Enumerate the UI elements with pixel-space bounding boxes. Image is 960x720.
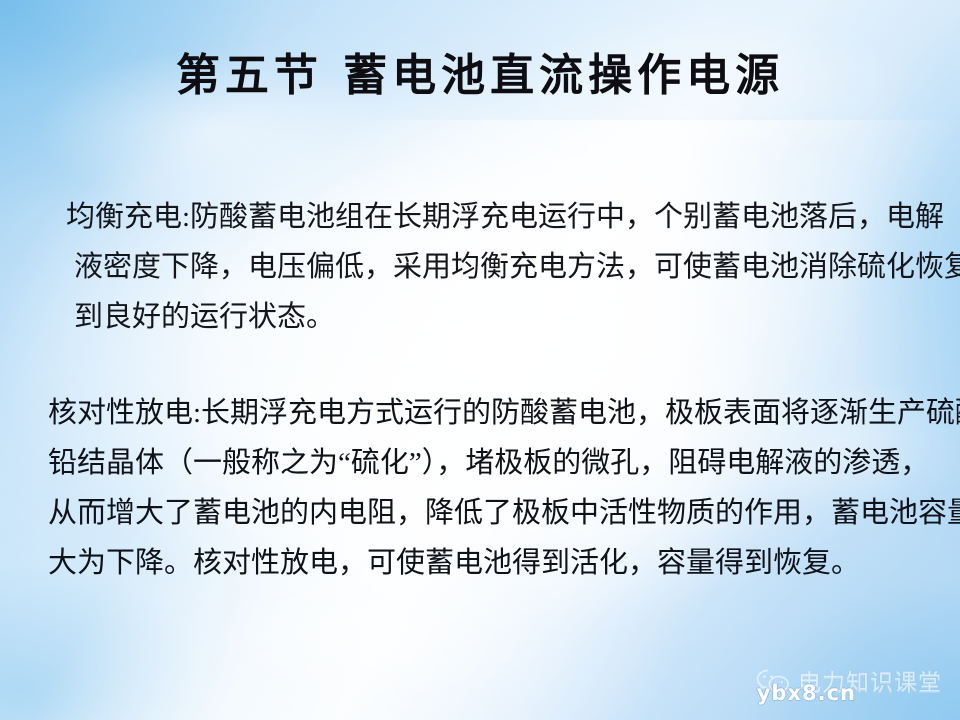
- slide-title: 第五节 蓄电池直流操作电源: [0, 48, 960, 104]
- paragraph-line: 从而增大了蓄电池的内电阻，降低了极板中活性物质的作用，蓄电池容量: [48, 488, 960, 538]
- paragraph-line: 大为下降。核对性放电，可使蓄电池得到活化，容量得到恢复。: [48, 538, 960, 588]
- paragraph-balanced-charging: 均衡充电:防酸蓄电池组在长期浮充电运行中，个别蓄电池落后，电解 液密度下降，电压…: [66, 192, 960, 342]
- paragraph-line: 到良好的运行状态。: [74, 292, 960, 342]
- paragraph-verification-discharge: 核对性放电:长期浮充电方式运行的防酸蓄电池，极板表面将逐渐生产硫酸 铅结晶体（一…: [48, 388, 960, 588]
- paragraph-line: 铅结晶体（一般称之为“硫化”），堵极板的微孔，阻碍电解液的渗透，: [48, 438, 960, 488]
- slide-canvas: 第五节 蓄电池直流操作电源 均衡充电:防酸蓄电池组在长期浮充电运行中，个别蓄电池…: [0, 0, 960, 720]
- slide-content: 第五节 蓄电池直流操作电源 均衡充电:防酸蓄电池组在长期浮充电运行中，个别蓄电池…: [0, 0, 960, 720]
- paragraph-line: 核对性放电:长期浮充电方式运行的防酸蓄电池，极板表面将逐渐生产硫酸: [48, 388, 960, 438]
- paragraph-line: 均衡充电:防酸蓄电池组在长期浮充电运行中，个别蓄电池落后，电解: [66, 192, 960, 242]
- paragraph-line: 液密度下降，电压偏低，采用均衡充电方法，可使蓄电池消除硫化恢复: [74, 242, 960, 292]
- site-stamp: ybx8.cn: [757, 682, 856, 704]
